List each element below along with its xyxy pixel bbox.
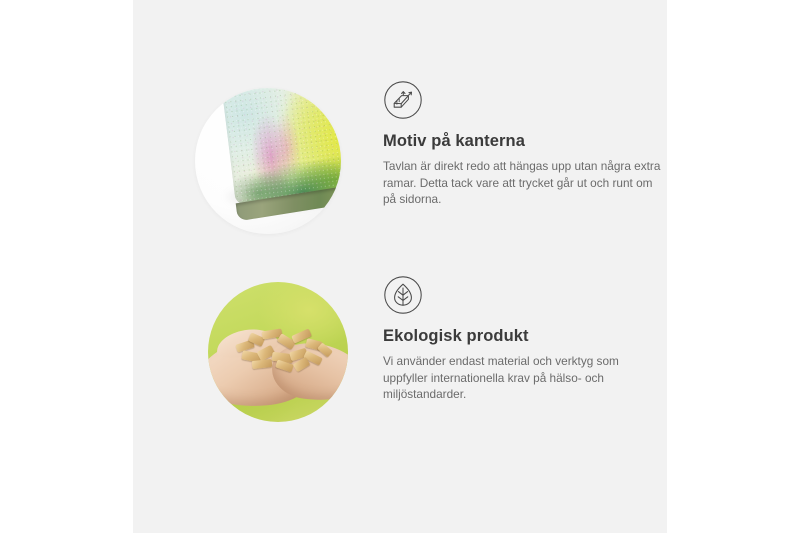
- feature-text-edges: Motiv på kanterna Tavlan är direkt redo …: [383, 80, 663, 208]
- feature-title: Ekologisk produkt: [383, 327, 663, 346]
- feature-block-edges: Motiv på kanterna Tavlan är direkt redo …: [133, 80, 667, 260]
- canvas-printed-face: [222, 88, 341, 205]
- hands-illustration: [208, 326, 348, 412]
- canvas-print-corner-photo: [195, 88, 341, 234]
- wood-chips-pile: [232, 326, 336, 372]
- feature-body: Tavlan är direkt redo att hängas upp uta…: [383, 158, 663, 208]
- canvas-wrap-arrows-icon: [383, 80, 423, 120]
- feature-block-eco: Ekologisk produkt Vi använder endast mat…: [133, 275, 667, 455]
- feature-title: Motiv på kanterna: [383, 132, 663, 151]
- canvas-board: [222, 88, 341, 221]
- feature-body: Vi använder endast material och verktyg …: [383, 353, 663, 403]
- product-feature-banner: Motiv på kanterna Tavlan är direkt redo …: [0, 0, 800, 533]
- feature-text-eco: Ekologisk produkt Vi använder endast mat…: [383, 275, 663, 403]
- leaf-icon: [383, 275, 423, 315]
- hands-holding-wood-chips-photo: [208, 282, 348, 422]
